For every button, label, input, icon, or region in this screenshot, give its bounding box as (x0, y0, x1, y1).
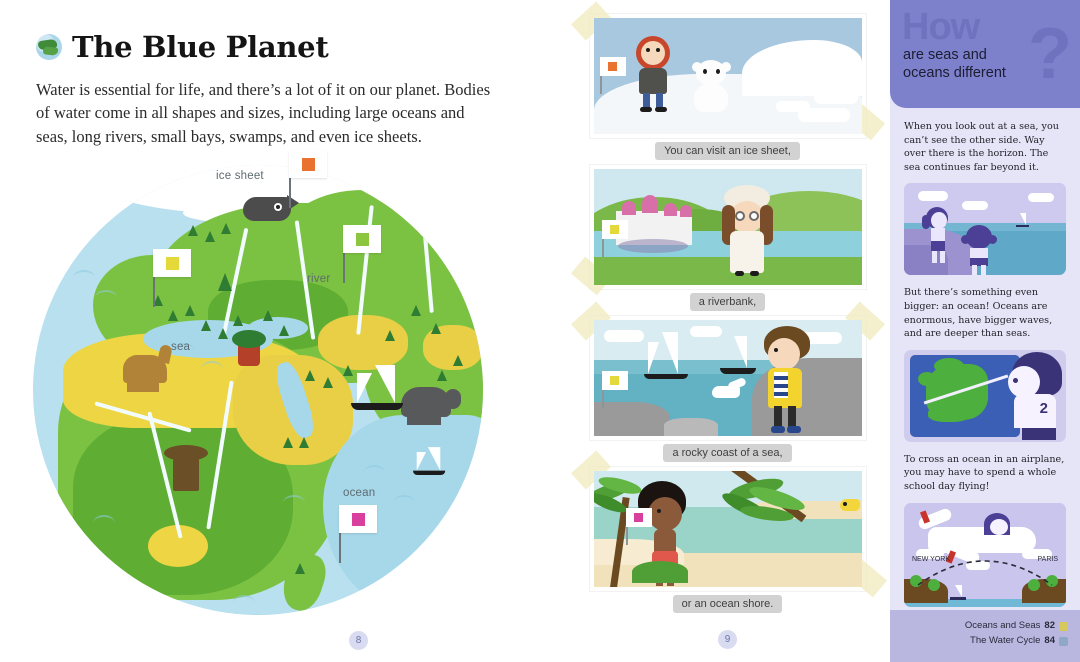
panel-ocean-shore[interactable]: or an ocean shore. (590, 467, 866, 613)
sidebar-footer: Oceans and Seas 82 The Water Cycle 84 (890, 610, 1080, 662)
left-page: The Blue Planet Water is essential for l… (0, 0, 565, 662)
panel-caption: You can visit an ice sheet, (655, 142, 800, 160)
sidebar-paragraph-1: When you look out at a sea, you can’t se… (904, 120, 1066, 174)
page-title: The Blue Planet (72, 30, 328, 64)
flight-path-icon (904, 547, 1066, 589)
footer-ref-label: Oceans and Seas (965, 619, 1041, 634)
flag-sea[interactable] (343, 243, 345, 283)
panel-rocky-coast[interactable]: a rocky coast of a sea, (590, 316, 866, 462)
panel-caption: or an ocean shore. (673, 595, 783, 613)
footer-ref-water-cycle[interactable]: The Water Cycle 84 (902, 634, 1068, 649)
footer-ref-page: 82 (1044, 619, 1055, 634)
route-label-right: PARIS (1038, 556, 1059, 563)
sidebar-paragraph-2: But there’s something even bigger: an oc… (904, 286, 1066, 340)
sidebar-question: are seas and oceans different (903, 46, 1006, 82)
panel-caption: a rocky coast of a sea, (663, 444, 791, 462)
panel-flag-marker (602, 231, 604, 257)
flag-ocean[interactable] (339, 523, 341, 563)
footer-ref-oceans[interactable]: Oceans and Seas 82 (902, 619, 1068, 634)
cloud-icon (1059, 637, 1068, 646)
globe-label-river: river (307, 273, 330, 285)
spread: The Blue Planet Water is essential for l… (0, 0, 1080, 662)
europe-map-pointer-illustration: 2 (904, 350, 1066, 442)
camel-icon (123, 355, 167, 383)
page-number-right: 9 (718, 630, 737, 649)
globe-sphere (33, 165, 483, 615)
globe-illustration: ice sheet sea river ocean (33, 165, 483, 615)
panel-ice-sheet[interactable]: You can visit an ice sheet, (590, 14, 866, 160)
sidebar-question-line2: oceans different (903, 64, 1006, 82)
cedar-tree-icon (238, 340, 260, 366)
sea-horizon-illustration (904, 183, 1066, 275)
sidebar-question-line1: are seas and (903, 46, 1006, 64)
panel-riverbank[interactable]: a riverbank, (590, 165, 866, 311)
route-label-left: NEW YORK (912, 556, 950, 563)
sidebar-body: When you look out at a sea, you can’t se… (890, 108, 1080, 616)
sidebar-paragraph-3: To cross an ocean in an airplane, you ma… (904, 453, 1066, 494)
panel-flag-marker (602, 382, 604, 408)
scene-rocky-coast (594, 320, 862, 436)
panel-flag-marker (600, 68, 602, 94)
question-mark-icon: ? (1028, 18, 1072, 90)
scene-ocean-shore (594, 471, 862, 587)
middle-column: You can visit an ice sheet, (565, 0, 890, 662)
panel-flag-marker (626, 519, 628, 545)
flag-river[interactable] (153, 267, 155, 307)
sea-icon (1059, 622, 1068, 631)
panel-caption: a riverbank, (690, 293, 765, 311)
sidebar: How ? are seas and oceans different When… (890, 0, 1080, 662)
airplane-route-illustration: NEW YORK PARIS (904, 503, 1066, 607)
intro-paragraph: Water is essential for life, and there’s… (36, 78, 491, 148)
page-title-row: The Blue Planet (36, 30, 531, 64)
sidebar-header: How ? are seas and oceans different (890, 0, 1080, 108)
scene-ice-sheet (594, 18, 862, 134)
baobab-tree-icon (173, 457, 199, 491)
globe-label-ice-sheet: ice sheet (216, 170, 264, 182)
whale-icon (243, 197, 291, 221)
shirt-number: 2 (1040, 400, 1048, 417)
scene-riverbank (594, 169, 862, 285)
globe-icon (36, 34, 62, 60)
footer-ref-page: 84 (1044, 634, 1055, 649)
sidebar-how-word: How (902, 8, 979, 46)
flag-ice-sheet[interactable] (289, 168, 291, 208)
elephant-icon (401, 387, 451, 417)
footer-ref-label: The Water Cycle (970, 634, 1040, 649)
globe-label-sea: sea (171, 341, 190, 353)
page-number-left: 8 (349, 631, 368, 650)
globe-label-ocean: ocean (343, 487, 375, 499)
